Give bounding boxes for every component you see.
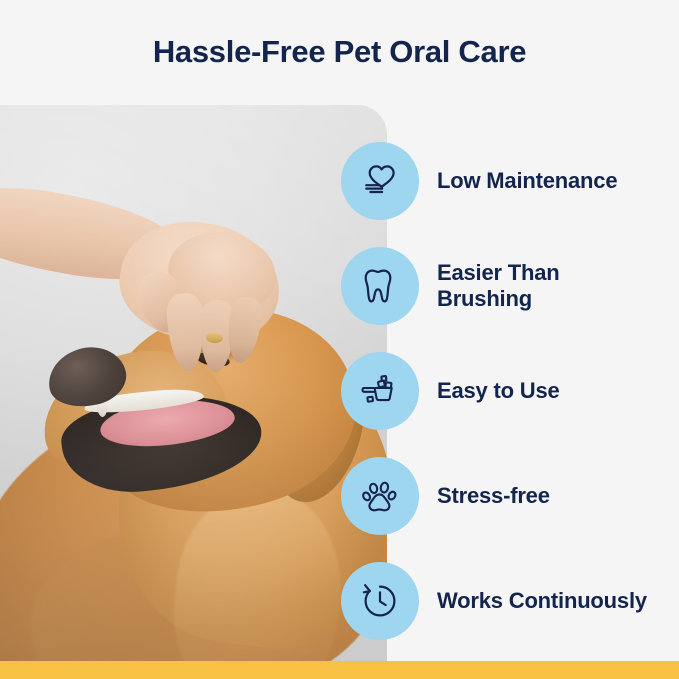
tooth-icon [341, 247, 419, 325]
feature-row-works-continuously: Works Continuously [341, 548, 679, 653]
marketing-infographic: Hassle-Free Pet Oral Care [0, 0, 679, 679]
feature-label: Low Maintenance [437, 168, 617, 194]
heart-with-motion-lines-icon [341, 142, 419, 220]
feature-label: Easier Than Brushing [437, 260, 657, 311]
bottom-accent-bar [0, 661, 679, 679]
paw-print-icon [341, 457, 419, 535]
feature-row-easy-to-use: Easy to Use [341, 338, 679, 443]
product-lifestyle-photo [0, 105, 387, 662]
feature-row-stress-free: Stress-free [341, 443, 679, 548]
clock-rotate-icon [341, 562, 419, 640]
feature-label: Works Continuously [437, 588, 647, 614]
feature-label: Easy to Use [437, 378, 560, 404]
photo-vignette [0, 105, 387, 662]
feature-label: Stress-free [437, 483, 550, 509]
measuring-scoop-icon [341, 352, 419, 430]
feature-row-easier-than-brushing: Easier Than Brushing [341, 233, 679, 338]
feature-benefit-list: Low Maintenance Easier Than Brushing [341, 128, 679, 653]
feature-row-low-maintenance: Low Maintenance [341, 128, 679, 233]
page-title: Hassle-Free Pet Oral Care [0, 35, 679, 69]
